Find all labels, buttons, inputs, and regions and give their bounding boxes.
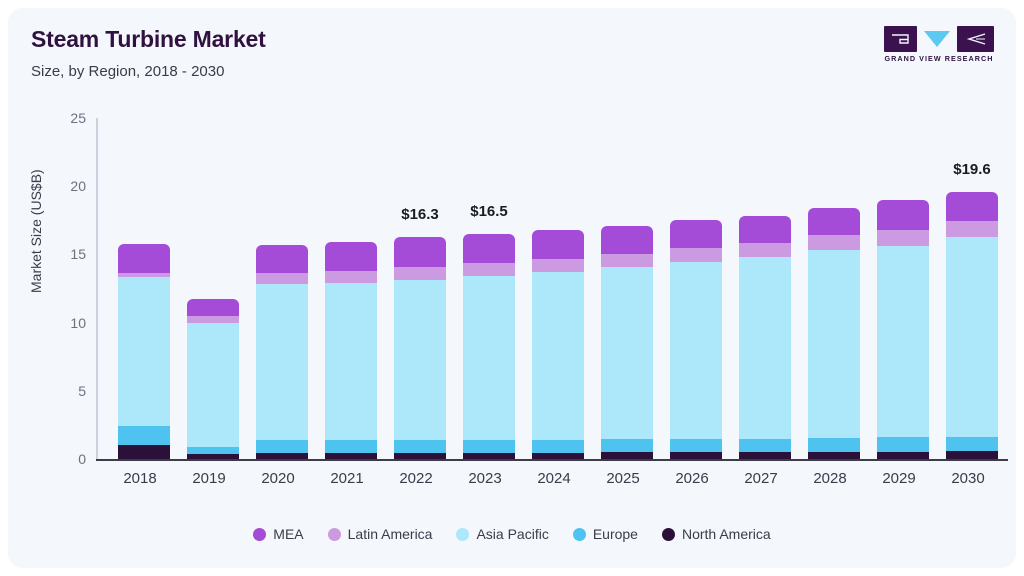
bar-segment-north-america[interactable] (739, 452, 791, 459)
bar-value-label: $16.5 (470, 203, 508, 220)
legend-swatch-icon (662, 528, 675, 541)
bar-segment-latin-america[interactable] (394, 267, 446, 280)
bar-segment-latin-america[interactable] (463, 263, 515, 276)
y-axis-tick-label: 5 (78, 383, 86, 399)
bar-segment-north-america[interactable] (808, 452, 860, 459)
bar-segment-europe[interactable] (670, 439, 722, 453)
x-axis-tick-label: 2021 (317, 470, 377, 487)
bar-stack (118, 244, 170, 460)
bar-segment-asia-pacific[interactable] (394, 280, 446, 440)
x-axis-tick-label: 2028 (800, 470, 860, 487)
legend-label: Latin America (348, 526, 433, 542)
bar-segment-mea[interactable] (187, 299, 239, 315)
x-axis-tick-label: 2030 (938, 470, 998, 487)
bar-segment-asia-pacific[interactable] (325, 283, 377, 440)
x-axis-tick-label: 2027 (731, 470, 791, 487)
bar-segment-europe[interactable] (118, 426, 170, 445)
bar-segment-latin-america[interactable] (187, 316, 239, 324)
bar-group[interactable] (670, 220, 722, 459)
grand-view-research-logo: GRAND VIEW RESEARCH (884, 26, 994, 66)
y-axis-tick-label: 15 (70, 246, 86, 262)
bar-segment-latin-america[interactable] (739, 243, 791, 257)
y-axis-label: Market Size (US$B) (28, 169, 44, 293)
bar-segment-mea[interactable] (877, 200, 929, 230)
gvr-logo-icon (884, 26, 994, 52)
bar-stack (325, 242, 377, 459)
bar-segment-mea[interactable] (256, 245, 308, 273)
bar-segment-mea[interactable] (532, 230, 584, 259)
bar-segment-asia-pacific[interactable] (877, 246, 929, 438)
bar-segment-latin-america[interactable] (532, 259, 584, 273)
bar-group[interactable]: $19.6 (946, 192, 998, 459)
x-axis-tick-label: 2029 (869, 470, 929, 487)
bar-segment-north-america[interactable] (532, 453, 584, 459)
bar-stack (601, 226, 653, 459)
chart-legend: MEALatin AmericaAsia PacificEuropeNorth … (8, 526, 1016, 542)
bar-segment-europe[interactable] (877, 437, 929, 451)
bar-group[interactable] (118, 244, 170, 460)
bar-stack (877, 200, 929, 459)
bar-stack (670, 220, 722, 459)
bar-segment-north-america[interactable] (394, 453, 446, 459)
bar-segment-asia-pacific[interactable] (118, 277, 170, 426)
bar-segment-mea[interactable] (325, 242, 377, 271)
bar-stack (808, 208, 860, 459)
logo-wordmark: GRAND VIEW RESEARCH (884, 54, 994, 63)
bar-segment-europe[interactable] (601, 439, 653, 452)
bar-segment-asia-pacific[interactable] (670, 262, 722, 439)
bar-group[interactable]: $16.5 (463, 234, 515, 459)
x-axis-tick-label: 2019 (179, 470, 239, 487)
legend-item-europe[interactable]: Europe (573, 526, 638, 542)
bar-stack (739, 216, 791, 459)
legend-swatch-icon (573, 528, 586, 541)
bar-segment-latin-america[interactable] (601, 254, 653, 268)
legend-label: Asia Pacific (476, 526, 548, 542)
bar-segment-latin-america[interactable] (256, 273, 308, 285)
bar-segment-latin-america[interactable] (670, 248, 722, 262)
legend-swatch-icon (328, 528, 341, 541)
x-axis-tick-label: 2023 (455, 470, 515, 487)
bar-segment-north-america[interactable] (325, 453, 377, 459)
bar-group[interactable] (601, 226, 653, 459)
bar-segment-mea[interactable] (601, 226, 653, 254)
bar-segment-europe[interactable] (187, 447, 239, 454)
legend-label: Europe (593, 526, 638, 542)
bar-segment-north-america[interactable] (463, 453, 515, 459)
bar-group[interactable] (256, 245, 308, 459)
y-axis-tick-label: 20 (70, 178, 86, 194)
bar-group[interactable]: $16.3 (394, 237, 446, 459)
bar-segment-asia-pacific[interactable] (739, 257, 791, 438)
bar-stack (532, 230, 584, 459)
bar-segment-latin-america[interactable] (877, 230, 929, 246)
legend-item-latin-america[interactable]: Latin America (328, 526, 433, 542)
bar-stack (394, 237, 446, 459)
screenshot-frame: Steam Turbine Market Size, by Region, 20… (0, 0, 1024, 576)
bar-stack (187, 299, 239, 459)
bar-segment-asia-pacific[interactable] (256, 284, 308, 439)
bar-segment-north-america[interactable] (946, 451, 998, 459)
bar-segment-mea[interactable] (118, 244, 170, 273)
bar-segment-latin-america[interactable] (325, 271, 377, 283)
bar-segment-north-america[interactable] (256, 453, 308, 459)
x-axis-line (96, 459, 1008, 461)
bar-segment-mea[interactable] (946, 192, 998, 221)
legend-label: North America (682, 526, 771, 542)
bar-stack (946, 192, 998, 459)
bar-segment-europe[interactable] (946, 437, 998, 452)
bar-segment-mea[interactable] (463, 234, 515, 263)
bar-segment-europe[interactable] (256, 440, 308, 453)
legend-item-north-america[interactable]: North America (662, 526, 771, 542)
bar-segment-europe[interactable] (325, 440, 377, 453)
bar-segment-north-america[interactable] (601, 452, 653, 459)
bar-segment-europe[interactable] (463, 440, 515, 453)
bar-value-label: $16.3 (401, 206, 439, 223)
legend-swatch-icon (253, 528, 266, 541)
legend-swatch-icon (456, 528, 469, 541)
plot-area: 0510152025 $16.3$16.5$19.6 2018201920202… (96, 110, 1008, 470)
y-axis-line (96, 118, 98, 459)
bar-group[interactable] (187, 299, 239, 459)
bar-segment-asia-pacific[interactable] (463, 276, 515, 440)
bar-segment-europe[interactable] (532, 440, 584, 453)
bar-segment-latin-america[interactable] (808, 235, 860, 249)
bar-stack (256, 245, 308, 459)
y-axis-tick-label: 25 (70, 110, 86, 126)
bar-group[interactable] (325, 242, 377, 459)
bar-segment-asia-pacific[interactable] (187, 323, 239, 447)
y-axis-tick-label: 10 (70, 315, 86, 331)
x-axis-tick-label: 2022 (386, 470, 446, 487)
bar-segment-north-america[interactable] (877, 452, 929, 460)
bar-segment-asia-pacific[interactable] (808, 250, 860, 438)
x-axis-tick-label: 2020 (248, 470, 308, 487)
chart-panel: Steam Turbine Market Size, by Region, 20… (8, 8, 1016, 568)
bar-segment-mea[interactable] (394, 237, 446, 268)
bar-group[interactable] (877, 200, 929, 459)
x-axis-tick-label: 2018 (110, 470, 170, 487)
bar-segment-mea[interactable] (670, 220, 722, 248)
bar-segment-mea[interactable] (808, 208, 860, 235)
y-axis-tick-label: 0 (78, 451, 86, 467)
x-axis-tick-label: 2026 (662, 470, 722, 487)
bar-segment-north-america[interactable] (118, 445, 170, 459)
legend-item-asia-pacific[interactable]: Asia Pacific (456, 526, 548, 542)
bar-segment-latin-america[interactable] (946, 221, 998, 237)
bar-segment-asia-pacific[interactable] (946, 237, 998, 436)
bar-segment-europe[interactable] (808, 438, 860, 452)
legend-item-mea[interactable]: MEA (253, 526, 303, 542)
bar-stack (463, 234, 515, 459)
legend-label: MEA (273, 526, 303, 542)
bar-group[interactable] (808, 208, 860, 459)
page-subtitle: Size, by Region, 2018 - 2030 (31, 63, 224, 80)
x-axis-tick-label: 2025 (593, 470, 653, 487)
page-title: Steam Turbine Market (31, 26, 266, 53)
bar-segment-mea[interactable] (739, 216, 791, 243)
bar-segment-north-america[interactable] (670, 452, 722, 459)
bar-group[interactable] (739, 216, 791, 459)
bar-segment-north-america[interactable] (187, 454, 239, 459)
bar-segment-europe[interactable] (739, 439, 791, 453)
bar-segment-latin-america[interactable] (118, 273, 170, 277)
x-axis-tick-label: 2024 (524, 470, 584, 487)
bar-group[interactable] (532, 230, 584, 459)
bar-segment-asia-pacific[interactable] (532, 272, 584, 440)
bar-segment-europe[interactable] (394, 440, 446, 453)
bar-value-label: $19.6 (953, 161, 991, 178)
bar-segment-asia-pacific[interactable] (601, 267, 653, 439)
